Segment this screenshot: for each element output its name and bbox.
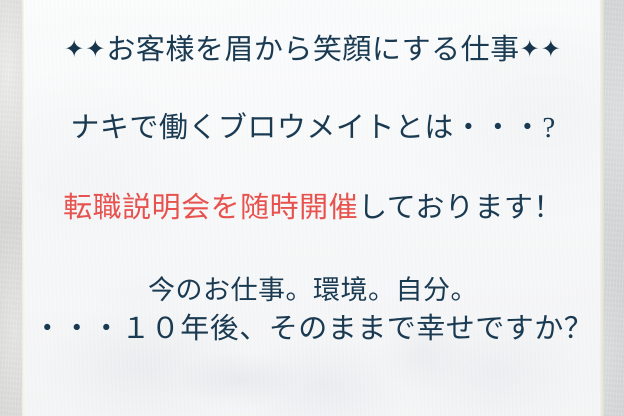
headline-line-5: ・・・１０年後、そのままで幸せですか？ [24, 305, 602, 347]
headline-line-2-text: ナキで働くブロウメイトとは・・・? [70, 112, 555, 144]
headline-line-4-text: 今のお仕事。環境。自分。 [148, 275, 478, 305]
headline-line-1-text: お客様を眉から笑顔にする仕事 [106, 34, 519, 66]
sparkle-icon-right: ✦✦ [520, 37, 562, 63]
banner-image: ✦✦お客様を眉から笑顔にする仕事✦✦ ナキで働くブロウメイトとは・・・? 転職説… [0, 0, 624, 416]
headline-line-2: ナキで働くブロウメイトとは・・・? [24, 104, 602, 146]
headline-line-5-text: ・・・１０年後、そのままで幸せですか？ [33, 313, 594, 345]
seminar-suffix-text: しております！ [358, 192, 563, 224]
text-block: ✦✦お客様を眉から笑顔にする仕事✦✦ ナキで働くブロウメイトとは・・・? 転職説… [24, 0, 602, 416]
headline-line-4: 今のお仕事。環境。自分。 [24, 268, 602, 307]
seminar-highlight-text: 転職説明会を随時開催 [63, 192, 358, 224]
headline-line-3: 転職説明会を随時開催しております！ [24, 184, 602, 226]
headline-line-1: ✦✦お客様を眉から笑顔にする仕事✦✦ [24, 26, 602, 68]
sparkle-icon-left: ✦✦ [64, 37, 106, 63]
